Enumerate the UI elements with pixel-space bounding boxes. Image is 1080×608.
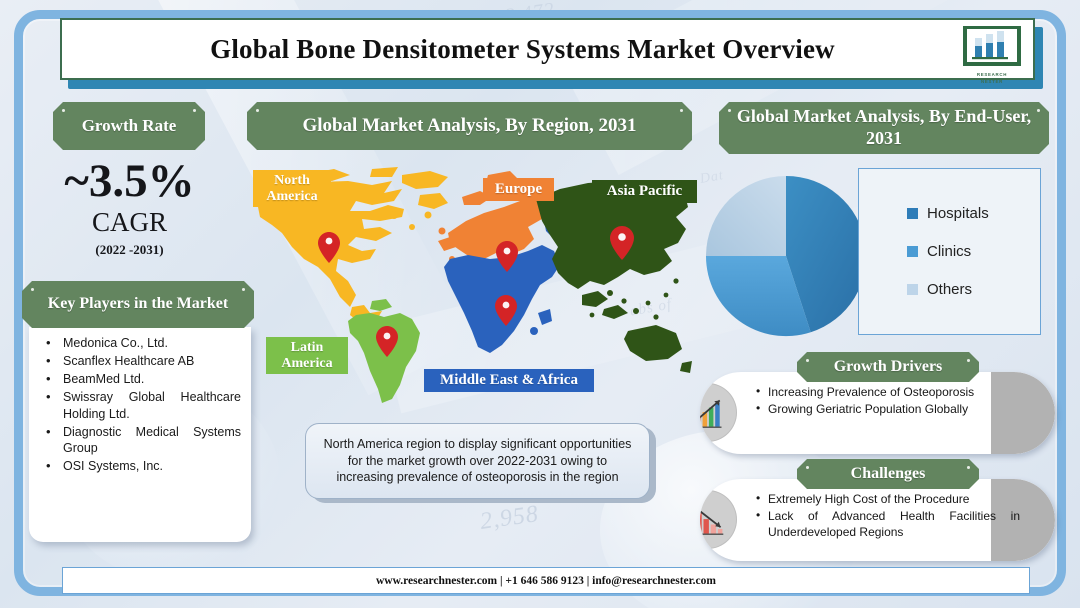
legend-label: Hospitals bbox=[927, 205, 989, 222]
growth-drivers-badge: Growth Drivers bbox=[797, 352, 979, 382]
key-player-name: Scanflex Healthcare AB bbox=[63, 353, 241, 370]
legend-label: Others bbox=[927, 281, 972, 298]
list-item: BeamMed Ltd. bbox=[37, 371, 241, 388]
list-item: OSI Systems, Inc. bbox=[37, 458, 241, 475]
list-item: Diagnostic Medical Systems Group bbox=[37, 424, 241, 457]
growth-driver-text: Growing Geriatric Population Globally bbox=[768, 402, 1020, 417]
end-user-analysis-badge-label: Global Market Analysis, By End-User, 203… bbox=[719, 106, 1049, 149]
legend-swatch-icon bbox=[907, 284, 918, 295]
legend-item-clinics: Clinics bbox=[907, 243, 1040, 260]
growth-driver-text: Increasing Prevalence of Osteoporosis bbox=[768, 385, 1020, 400]
pie-chart-svg bbox=[703, 173, 869, 339]
logo-bar-chart-icon bbox=[961, 26, 1023, 66]
list-item: Increasing Prevalence of Osteoporosis bbox=[756, 385, 1020, 400]
challenges-list: Extremely High Cost of the Procedure Lac… bbox=[756, 492, 1020, 542]
bar-chart-up-icon-svg bbox=[700, 395, 726, 431]
footer-bar: www.researchnester.com | +1 646 586 9123… bbox=[62, 567, 1030, 594]
key-player-name: Medonica Co., Ltd. bbox=[63, 335, 241, 352]
logo-text-line1: RESEARCH bbox=[961, 72, 1023, 78]
map-label-middle-east-africa: Middle East & Africa bbox=[424, 369, 594, 392]
key-player-name: BeamMed Ltd. bbox=[63, 371, 241, 388]
legend-label: Clinics bbox=[927, 243, 971, 260]
legend-swatch-icon bbox=[907, 246, 918, 257]
key-player-name: OSI Systems, Inc. bbox=[63, 458, 241, 475]
logo-text-line2: NESTER bbox=[961, 79, 1023, 85]
legend-item-hospitals: Hospitals bbox=[907, 205, 1040, 222]
list-item: Swissray Global Healthcare Holding Ltd. bbox=[37, 389, 241, 422]
bar-chart-down-icon-svg bbox=[700, 502, 726, 538]
growth-rate-badge-label: Growth Rate bbox=[82, 116, 177, 136]
challenges-badge-label: Challenges bbox=[851, 465, 926, 483]
callout-text: North America region to display signific… bbox=[318, 436, 637, 486]
pie-slice-others bbox=[706, 176, 786, 256]
list-item: Growing Geriatric Population Globally bbox=[756, 402, 1020, 417]
growth-rate-block: ~3.5% CAGR (2022 -2031) bbox=[22, 158, 237, 258]
challenge-text: Extremely High Cost of the Procedure bbox=[768, 492, 1020, 507]
challenges-pod: Extremely High Cost of the Procedure Lac… bbox=[700, 479, 1055, 561]
list-item: Scanflex Healthcare AB bbox=[37, 353, 241, 370]
page-title-bar: Global Bone Densitometer Systems Market … bbox=[60, 18, 1035, 80]
list-item: Extremely High Cost of the Procedure bbox=[756, 492, 1020, 507]
legend-item-others: Others bbox=[907, 281, 1040, 298]
growth-drivers-pod: Increasing Prevalence of Osteoporosis Gr… bbox=[700, 372, 1055, 454]
map-label-asia-pacific: Asia Pacific bbox=[592, 180, 697, 203]
key-player-name: Swissray Global Healthcare Holding Ltd. bbox=[63, 389, 241, 422]
growth-drivers-list: Increasing Prevalence of Osteoporosis Gr… bbox=[756, 385, 1020, 420]
key-players-badge: Key Players in the Market bbox=[22, 281, 254, 328]
bar-chart-down-icon bbox=[700, 490, 737, 549]
key-players-list: Medonica Co., Ltd. Scanflex Healthcare A… bbox=[37, 335, 241, 475]
map-region-asia-pacific bbox=[536, 181, 692, 373]
map-label-europe: Europe bbox=[483, 178, 554, 201]
key-player-name: Diagnostic Medical Systems Group bbox=[63, 424, 241, 457]
growth-drivers-badge-label: Growth Drivers bbox=[834, 358, 943, 376]
footer-contact-text: www.researchnester.com | +1 646 586 9123… bbox=[376, 575, 716, 587]
bar-chart-up-icon bbox=[700, 383, 737, 442]
map-label-latin-america: Latin America bbox=[266, 337, 348, 374]
map-label-north-america: North America bbox=[253, 170, 331, 207]
end-user-analysis-badge: Global Market Analysis, By End-User, 203… bbox=[719, 102, 1049, 154]
end-user-legend: Hospitals Clinics Others bbox=[858, 168, 1041, 335]
key-players-badge-label: Key Players in the Market bbox=[48, 295, 228, 313]
research-nester-logo: RESEARCH NESTER bbox=[961, 26, 1023, 76]
end-user-pie-chart bbox=[703, 173, 869, 339]
region-analysis-badge: Global Market Analysis, By Region, 2031 bbox=[247, 102, 692, 150]
key-players-card: Medonica Co., Ltd. Scanflex Healthcare A… bbox=[29, 327, 251, 542]
challenges-badge: Challenges bbox=[797, 459, 979, 489]
page-title: Global Bone Densitometer Systems Market … bbox=[210, 34, 885, 65]
list-item: Medonica Co., Ltd. bbox=[37, 335, 241, 352]
cagr-value: ~3.5% bbox=[22, 158, 237, 205]
list-item: Lack of Advanced Health Facilities in Un… bbox=[756, 509, 1020, 540]
region-analysis-badge-label: Global Market Analysis, By Region, 2031 bbox=[302, 115, 636, 137]
cagr-period: (2022 -2031) bbox=[22, 242, 237, 258]
challenge-text: Lack of Advanced Health Facilities in Un… bbox=[768, 509, 1020, 540]
region-insight-callout: North America region to display signific… bbox=[305, 423, 650, 499]
cagr-label: CAGR bbox=[22, 207, 237, 238]
growth-rate-badge: Growth Rate bbox=[53, 102, 205, 150]
legend-swatch-icon bbox=[907, 208, 918, 219]
